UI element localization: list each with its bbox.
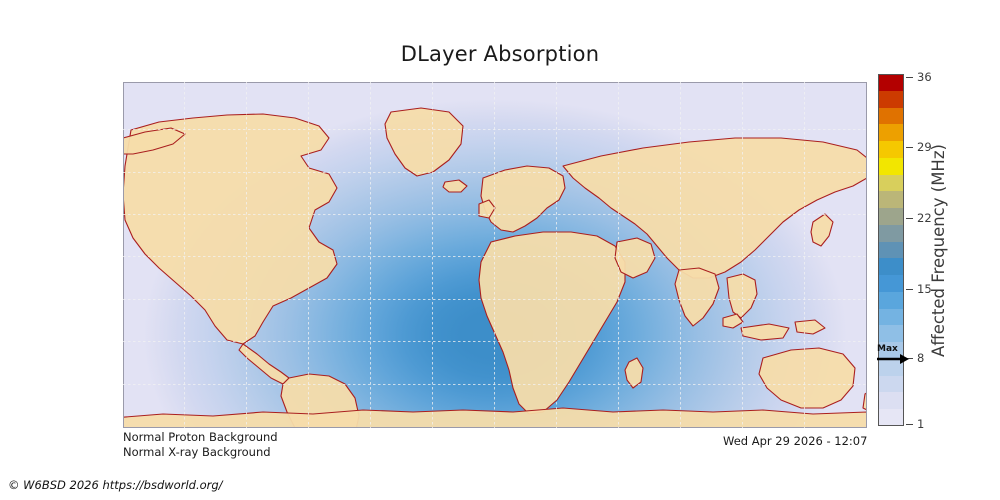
colorbar-band bbox=[878, 325, 904, 342]
figure-root: DLayer Absorption bbox=[0, 0, 1000, 500]
colorbar-band bbox=[878, 124, 904, 141]
timestamp: Wed Apr 29 2026 - 12:07 bbox=[723, 434, 867, 448]
note-xray-background: Normal X-ray Background bbox=[123, 445, 271, 459]
colorbar-band bbox=[878, 392, 904, 409]
colorbar-band bbox=[878, 275, 904, 292]
colorbar-band bbox=[878, 258, 904, 275]
colorbar-band bbox=[878, 376, 904, 393]
colorbar-band bbox=[878, 208, 904, 225]
colorbar-band bbox=[878, 242, 904, 259]
colorbar-tick bbox=[906, 289, 913, 290]
colorbar-tick bbox=[906, 77, 913, 78]
map-canvas[interactable] bbox=[123, 82, 867, 428]
colorbar-band bbox=[878, 409, 904, 426]
colorbar-band bbox=[878, 91, 904, 108]
colorbar-tick bbox=[906, 147, 913, 148]
colorbar-axis-label: Affected Frequency (MHz) bbox=[923, 74, 953, 426]
colorbar-tick bbox=[906, 218, 913, 219]
max-marker-label: Max bbox=[877, 344, 898, 354]
world-map-svg bbox=[123, 82, 867, 428]
colorbar-band bbox=[878, 158, 904, 175]
colorbar-band bbox=[878, 309, 904, 326]
max-marker: Max bbox=[876, 345, 910, 367]
colorbar-band bbox=[878, 141, 904, 158]
note-proton-background: Normal Proton Background bbox=[123, 430, 278, 444]
page-title: DLayer Absorption bbox=[0, 42, 1000, 66]
colorbar-band bbox=[878, 175, 904, 192]
colorbar-gradient[interactable] bbox=[878, 74, 904, 426]
colorbar-axis-label-text: Affected Frequency (MHz) bbox=[929, 144, 948, 357]
colorbar-band bbox=[878, 191, 904, 208]
colorbar-band bbox=[878, 292, 904, 309]
colorbar-band bbox=[878, 74, 904, 91]
colorbar-band bbox=[878, 225, 904, 242]
colorbar-band bbox=[878, 108, 904, 125]
copyright-notice: © W6BSD 2026 https://bsdworld.org/ bbox=[8, 478, 223, 492]
colorbar-tick bbox=[906, 424, 913, 425]
